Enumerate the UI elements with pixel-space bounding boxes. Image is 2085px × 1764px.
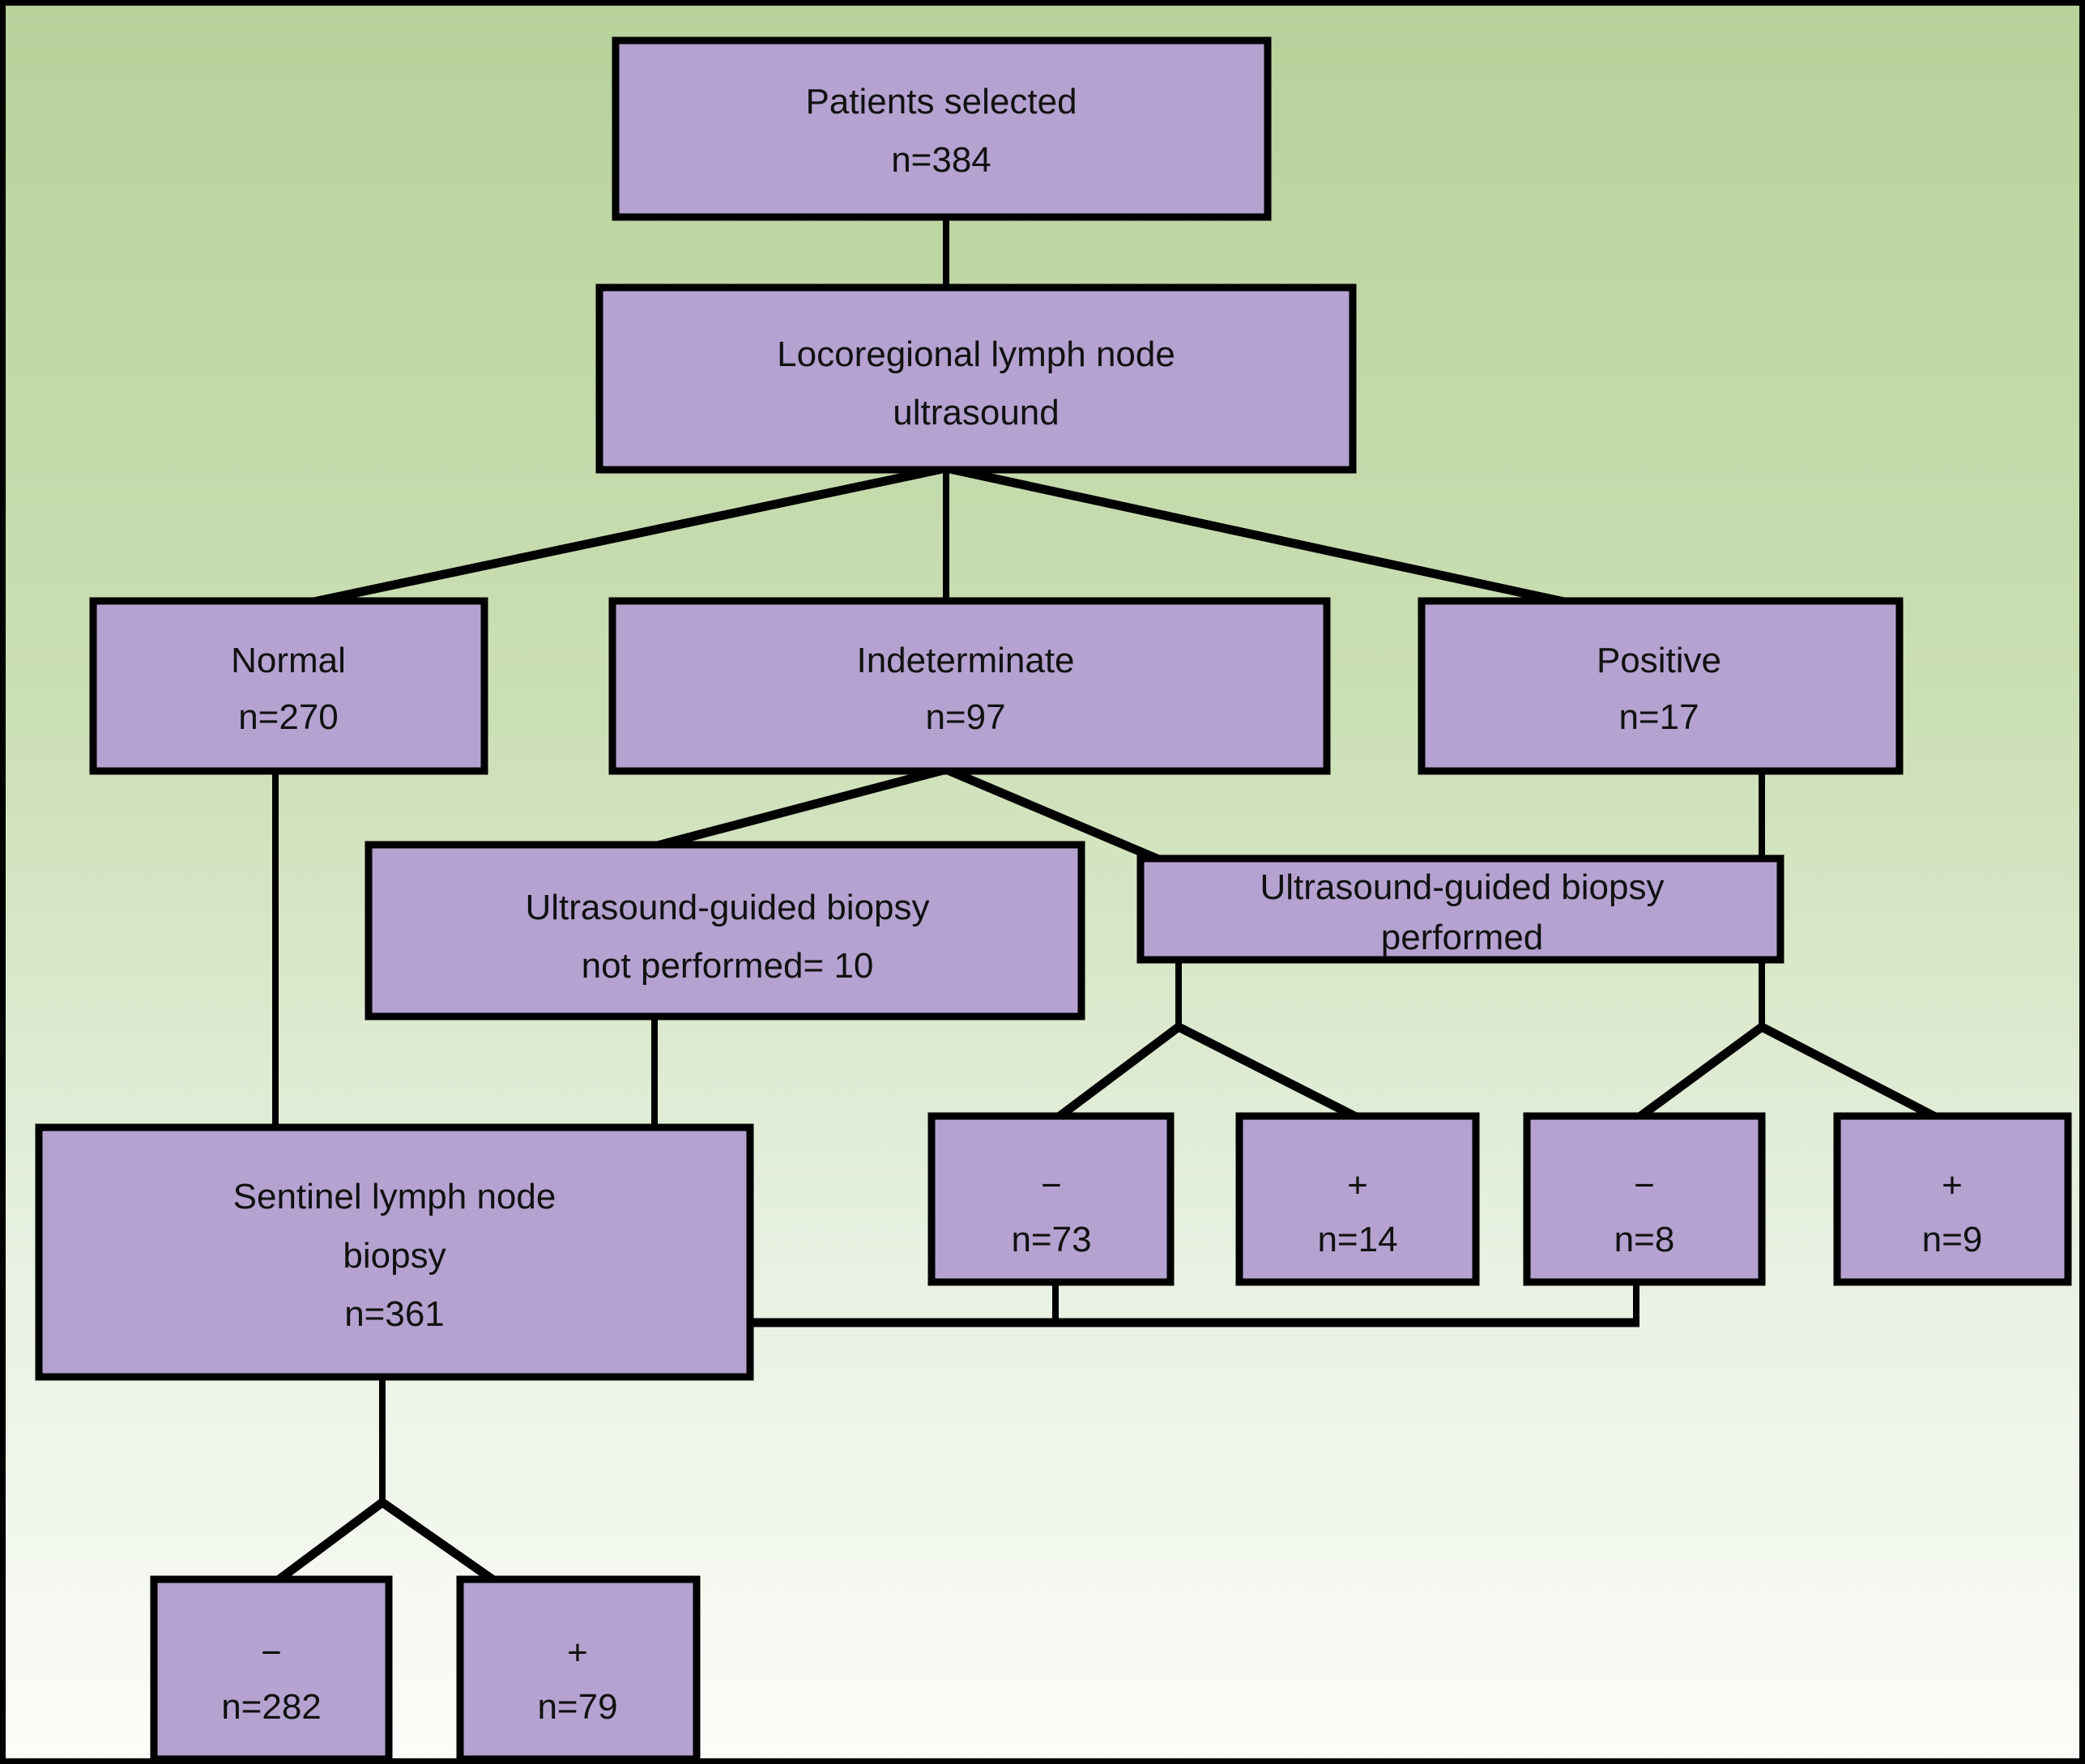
node-sentinel-positive-line2: n=79: [537, 1687, 617, 1727]
node-patients-selected-box[interactable]: [616, 40, 1268, 217]
node-indeterminate-line2: n=97: [925, 697, 1005, 737]
node-indeterminate-positive-line2: n=14: [1317, 1220, 1397, 1259]
node-positive-positive-line1: +: [1942, 1165, 1963, 1205]
node-sentinel-biopsy[interactable]: Sentinel lymph node biopsy n=361: [39, 1127, 750, 1377]
node-positive[interactable]: Positive n=17: [1422, 601, 1900, 771]
node-biopsy-performed-line2: performed: [1381, 918, 1544, 957]
node-indeterminate-positive[interactable]: + n=14: [1239, 1116, 1476, 1282]
node-normal-line1: Normal: [231, 641, 346, 680]
node-normal-line2: n=270: [238, 697, 339, 737]
node-patients-selected-line2: n=384: [891, 140, 991, 180]
node-positive-positive[interactable]: + n=9: [1837, 1116, 2068, 1282]
node-biopsy-not-performed[interactable]: Ultrasound-guided biopsy not performed= …: [369, 845, 1081, 1016]
node-ultrasound[interactable]: Locoregional lymph node ultrasound: [599, 288, 1353, 470]
node-sentinel-biopsy-line1: Sentinel lymph node: [233, 1177, 556, 1216]
node-sentinel-negative-line2: n=282: [221, 1687, 322, 1727]
node-indeterminate-negative-line1: −: [1041, 1165, 1062, 1205]
node-biopsy-performed[interactable]: Ultrasound-guided biopsy performed: [1141, 859, 1780, 960]
node-indeterminate-negative-line2: n=73: [1011, 1220, 1091, 1259]
node-sentinel-negative-line1: −: [261, 1633, 282, 1672]
node-biopsy-not-performed-line1: Ultrasound-guided biopsy: [526, 888, 930, 927]
node-patients-selected[interactable]: Patients selected n=384: [616, 40, 1268, 217]
node-positive-line1: Positive: [1597, 641, 1721, 680]
node-sentinel-biopsy-line2: biopsy: [343, 1236, 446, 1276]
node-indeterminate[interactable]: Indeterminate n=97: [612, 601, 1327, 771]
node-normal[interactable]: Normal n=270: [93, 601, 484, 771]
node-indeterminate-line1: Indeterminate: [856, 641, 1074, 680]
node-positive-line2: n=17: [1618, 697, 1699, 737]
node-positive-box[interactable]: [1422, 601, 1900, 771]
node-positive-negative-line2: n=8: [1614, 1220, 1675, 1259]
node-ultrasound-line2: ultrasound: [893, 393, 1059, 432]
node-sentinel-biopsy-line3: n=361: [344, 1294, 445, 1334]
flowchart-canvas: Patients selected n=384 Locoregional lym…: [0, 0, 2085, 1764]
node-indeterminate-negative[interactable]: − n=73: [932, 1116, 1170, 1282]
node-biopsy-performed-line1: Ultrasound-guided biopsy: [1260, 867, 1665, 907]
node-positive-negative[interactable]: − n=8: [1527, 1116, 1762, 1282]
node-ultrasound-line1: Locoregional lymph node: [777, 334, 1175, 374]
node-sentinel-positive-line1: +: [567, 1633, 588, 1672]
node-ultrasound-box[interactable]: [599, 288, 1353, 470]
node-patients-selected-line1: Patients selected: [805, 82, 1077, 121]
node-normal-box[interactable]: [93, 601, 484, 771]
node-sentinel-negative[interactable]: − n=282: [154, 1579, 389, 1759]
node-biopsy-not-performed-line2: not performed= 10: [582, 946, 874, 986]
node-positive-negative-line1: −: [1634, 1165, 1655, 1205]
node-positive-positive-line2: n=9: [1922, 1220, 1983, 1259]
flowchart-figure: Patients selected n=384 Locoregional lym…: [0, 0, 2085, 1764]
node-indeterminate-box[interactable]: [612, 601, 1327, 771]
node-sentinel-positive[interactable]: + n=79: [460, 1579, 697, 1759]
node-indeterminate-positive-line1: +: [1347, 1165, 1368, 1205]
node-biopsy-not-performed-box[interactable]: [369, 845, 1081, 1016]
